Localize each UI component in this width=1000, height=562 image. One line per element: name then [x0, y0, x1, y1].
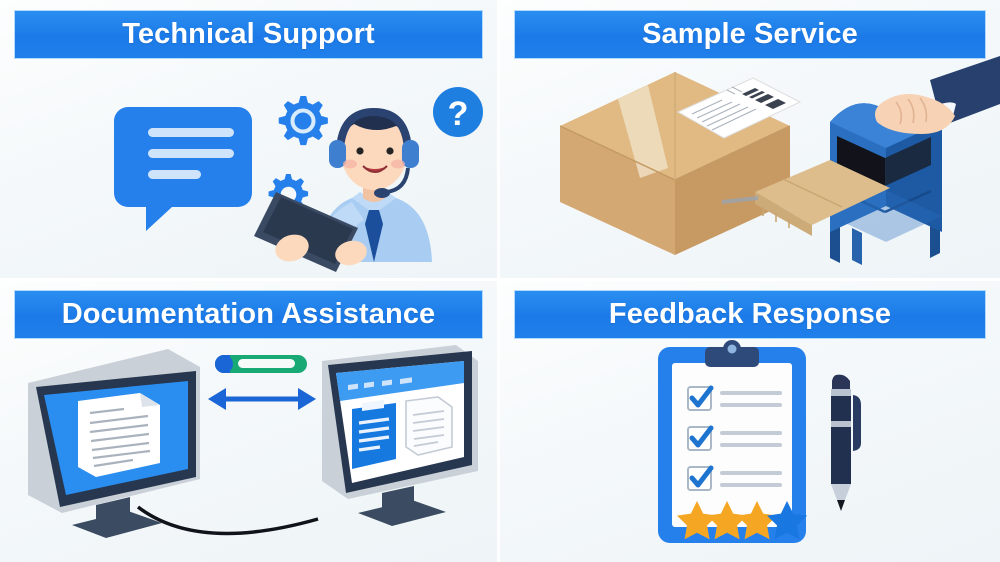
- panel-header-feedback-response: Feedback Response: [515, 291, 985, 338]
- panel-documentation-assistance: Documentation Assistance: [0, 281, 500, 562]
- cardboard-box: [560, 72, 800, 255]
- checkbox-checked: [688, 427, 711, 450]
- monitor-left: [28, 349, 200, 538]
- panel-sample-service: Sample Service: [500, 0, 1000, 281]
- panel-title: Technical Support: [122, 18, 375, 51]
- double-arrow-icon: [208, 388, 316, 410]
- document-page: [78, 393, 160, 477]
- progress-bar: [215, 355, 307, 373]
- checkbox-checked: [688, 467, 711, 490]
- checkbox-checked: [688, 387, 711, 410]
- gear-icon: [279, 96, 328, 145]
- panel-header-sample-service: Sample Service: [515, 11, 985, 58]
- monitor-right: [322, 345, 478, 526]
- panel-header-documentation-assistance: Documentation Assistance: [15, 291, 482, 338]
- panel-grid: Technical Support: [0, 0, 1000, 562]
- panel-header-technical-support: Technical Support: [15, 11, 482, 58]
- clipboard-icon: [352, 400, 396, 469]
- hand: [875, 56, 1000, 134]
- document-transfer-illustration: [0, 339, 497, 562]
- pen: [831, 375, 861, 511]
- panel-title: Sample Service: [642, 18, 858, 51]
- clipboard: [658, 340, 807, 543]
- package-mailbox-illustration: [500, 58, 1000, 278]
- panel-title: Documentation Assistance: [62, 298, 436, 331]
- support-agent-illustration: ?: [0, 58, 497, 278]
- cable: [138, 507, 318, 533]
- panel-feedback-response: Feedback Response: [500, 281, 1000, 562]
- feedback-clipboard-illustration: [500, 339, 1000, 562]
- document-outline: [406, 397, 452, 455]
- panel-title: Feedback Response: [609, 298, 891, 331]
- svg-text:?: ?: [448, 95, 469, 133]
- question-mark-badge: ?: [433, 87, 483, 137]
- panel-technical-support: Technical Support: [0, 0, 500, 281]
- chat-bubble-icon: [114, 107, 252, 231]
